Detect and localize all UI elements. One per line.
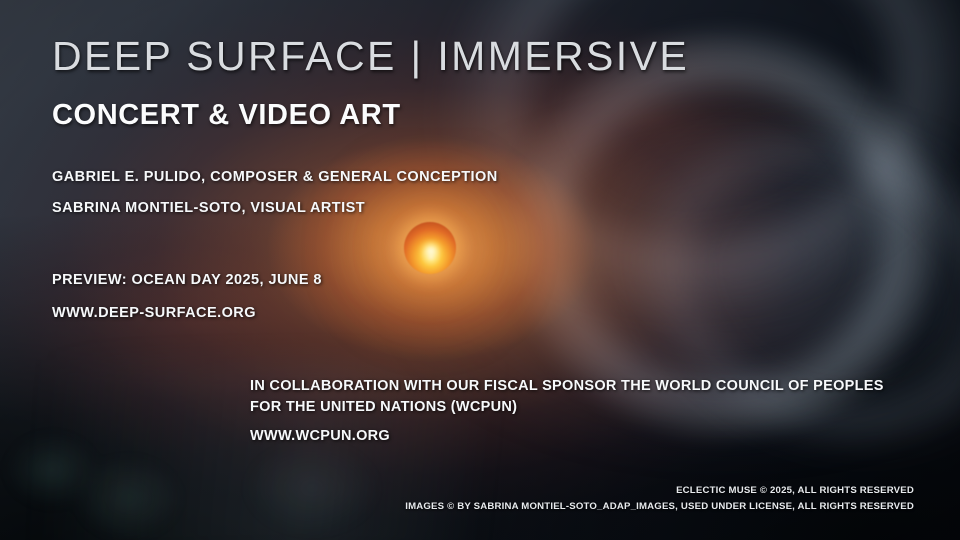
page-title: DEEP SURFACE | IMMERSIVE bbox=[52, 33, 689, 80]
image-credit-notice: IMAGES © BY SABRINA MONTIEL-SOTO_ADAP_IM… bbox=[405, 501, 914, 512]
copyright-notice: ECLECTIC MUSE © 2025, ALL RIGHTS RESERVE… bbox=[676, 485, 914, 496]
page-subtitle: CONCERT & VIDEO ART bbox=[52, 99, 401, 132]
website-link-wcpun[interactable]: WWW.WCPUN.ORG bbox=[250, 428, 390, 444]
collaboration-line-2: FOR THE UNITED NATIONS (WCPUN) bbox=[250, 399, 517, 415]
text-content-layer: DEEP SURFACE | IMMERSIVE CONCERT & VIDEO… bbox=[0, 0, 960, 540]
website-link-deep-surface[interactable]: WWW.DEEP-SURFACE.ORG bbox=[52, 305, 256, 321]
collaboration-line-1: IN COLLABORATION WITH OUR FISCAL SPONSOR… bbox=[250, 378, 884, 394]
credit-line-visual-artist: SABRINA MONTIEL-SOTO, VISUAL ARTIST bbox=[52, 200, 365, 216]
credit-line-composer: GABRIEL E. PULIDO, COMPOSER & GENERAL CO… bbox=[52, 169, 498, 185]
preview-date: PREVIEW: OCEAN DAY 2025, JUNE 8 bbox=[52, 272, 322, 288]
poster-canvas: DEEP SURFACE | IMMERSIVE CONCERT & VIDEO… bbox=[0, 0, 960, 540]
